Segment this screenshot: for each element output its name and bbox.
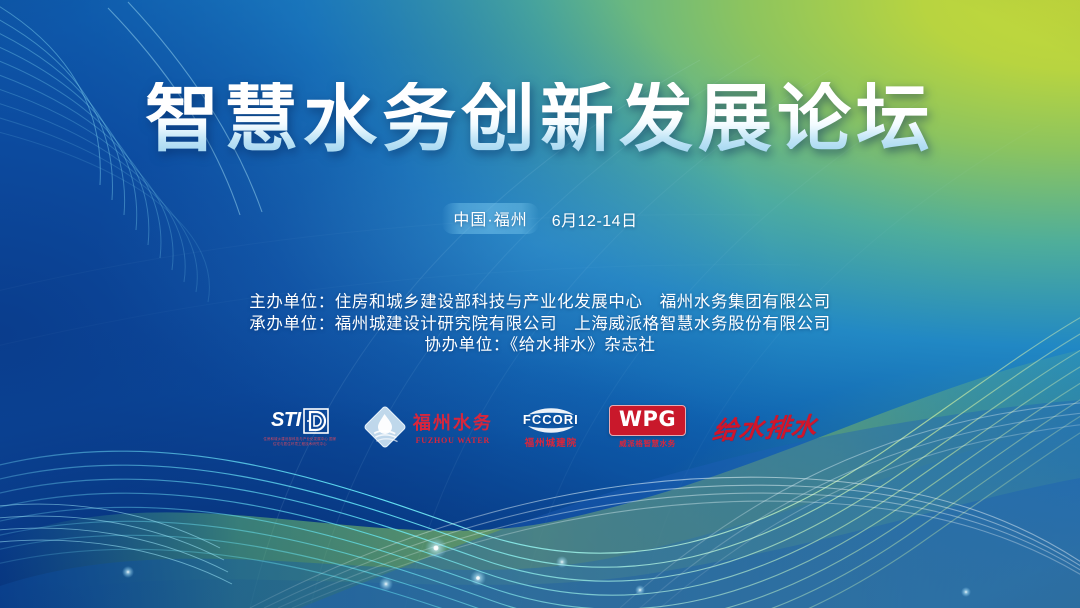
- wpg-badge: WPG: [609, 405, 686, 436]
- organizer-line-coorganizer: 协办单位：《给水排水》杂志社: [0, 335, 1080, 357]
- poster-title: 智慧水务创新发展论坛: [0, 82, 1080, 156]
- jishui-paishui-calligraphy: 给水排水: [711, 407, 820, 448]
- logo-fccori: FCCORI 福州城建院: [520, 398, 582, 456]
- organizer-line-host: 主办单位：住房和城乡建设部科技与产业化发展中心 福州水务集团有限公司: [0, 292, 1080, 314]
- conference-poster: 智慧水务创新发展论坛 中国·福州 6月12-14日 主办单位：住房和城乡建设部科…: [0, 0, 1080, 608]
- subtitle-location: 中国·福州: [442, 203, 538, 234]
- wpg-wordmark: WPG: [619, 407, 676, 431]
- stid-wordmark: STI: [271, 409, 301, 432]
- poster-content: 智慧水务创新发展论坛 中国·福州 6月12-14日 主办单位：住房和城乡建设部科…: [0, 0, 1080, 608]
- stid-d-icon: [303, 408, 329, 434]
- wpg-cn: 威派格智慧水务: [619, 438, 676, 449]
- stid-subtitle-text: 住房和城乡建设部科技与产业化发展中心 国家住宅与居住环境工程技术研究中心: [263, 437, 337, 447]
- fuzhou-water-en: FUZHOU WATER: [416, 436, 490, 445]
- logo-fuzhou-water: 福州水务 FUZHOU WATER: [364, 398, 493, 456]
- fccori-mark: FCCORI: [520, 406, 582, 434]
- logo-stid: STI 住房和城乡建设部科技与产业化发展中心 国家住宅与居住环境工程技术研究中心: [263, 398, 337, 456]
- logo-wpg: WPG 威派格智慧水务: [609, 398, 686, 456]
- stid-mark: STI: [271, 408, 329, 434]
- organizer-block: 主办单位：住房和城乡建设部科技与产业化发展中心 福州水务集团有限公司 承办单位：…: [0, 292, 1080, 357]
- water-drop-icon: [364, 405, 406, 449]
- subtitle-date: 6月12-14日: [552, 207, 638, 231]
- logo-jishui-paishui: 给水排水: [713, 398, 817, 456]
- poster-subtitle: 中国·福州 6月12-14日: [0, 203, 1080, 234]
- fuzhou-water-text: 福州水务 FUZHOU WATER: [413, 409, 493, 445]
- fuzhou-water-cn: 福州水务: [413, 409, 493, 435]
- fccori-wordmark: FCCORI: [523, 412, 579, 427]
- fccori-cn: 福州城建院: [525, 435, 578, 449]
- organizer-line-undertaker: 承办单位：福州城建设计研究院有限公司 上海威派格智慧水务股份有限公司: [0, 314, 1080, 336]
- sponsor-logo-strip: STI 住房和城乡建设部科技与产业化发展中心 国家住宅与居住环境工程技术研究中心: [0, 396, 1080, 458]
